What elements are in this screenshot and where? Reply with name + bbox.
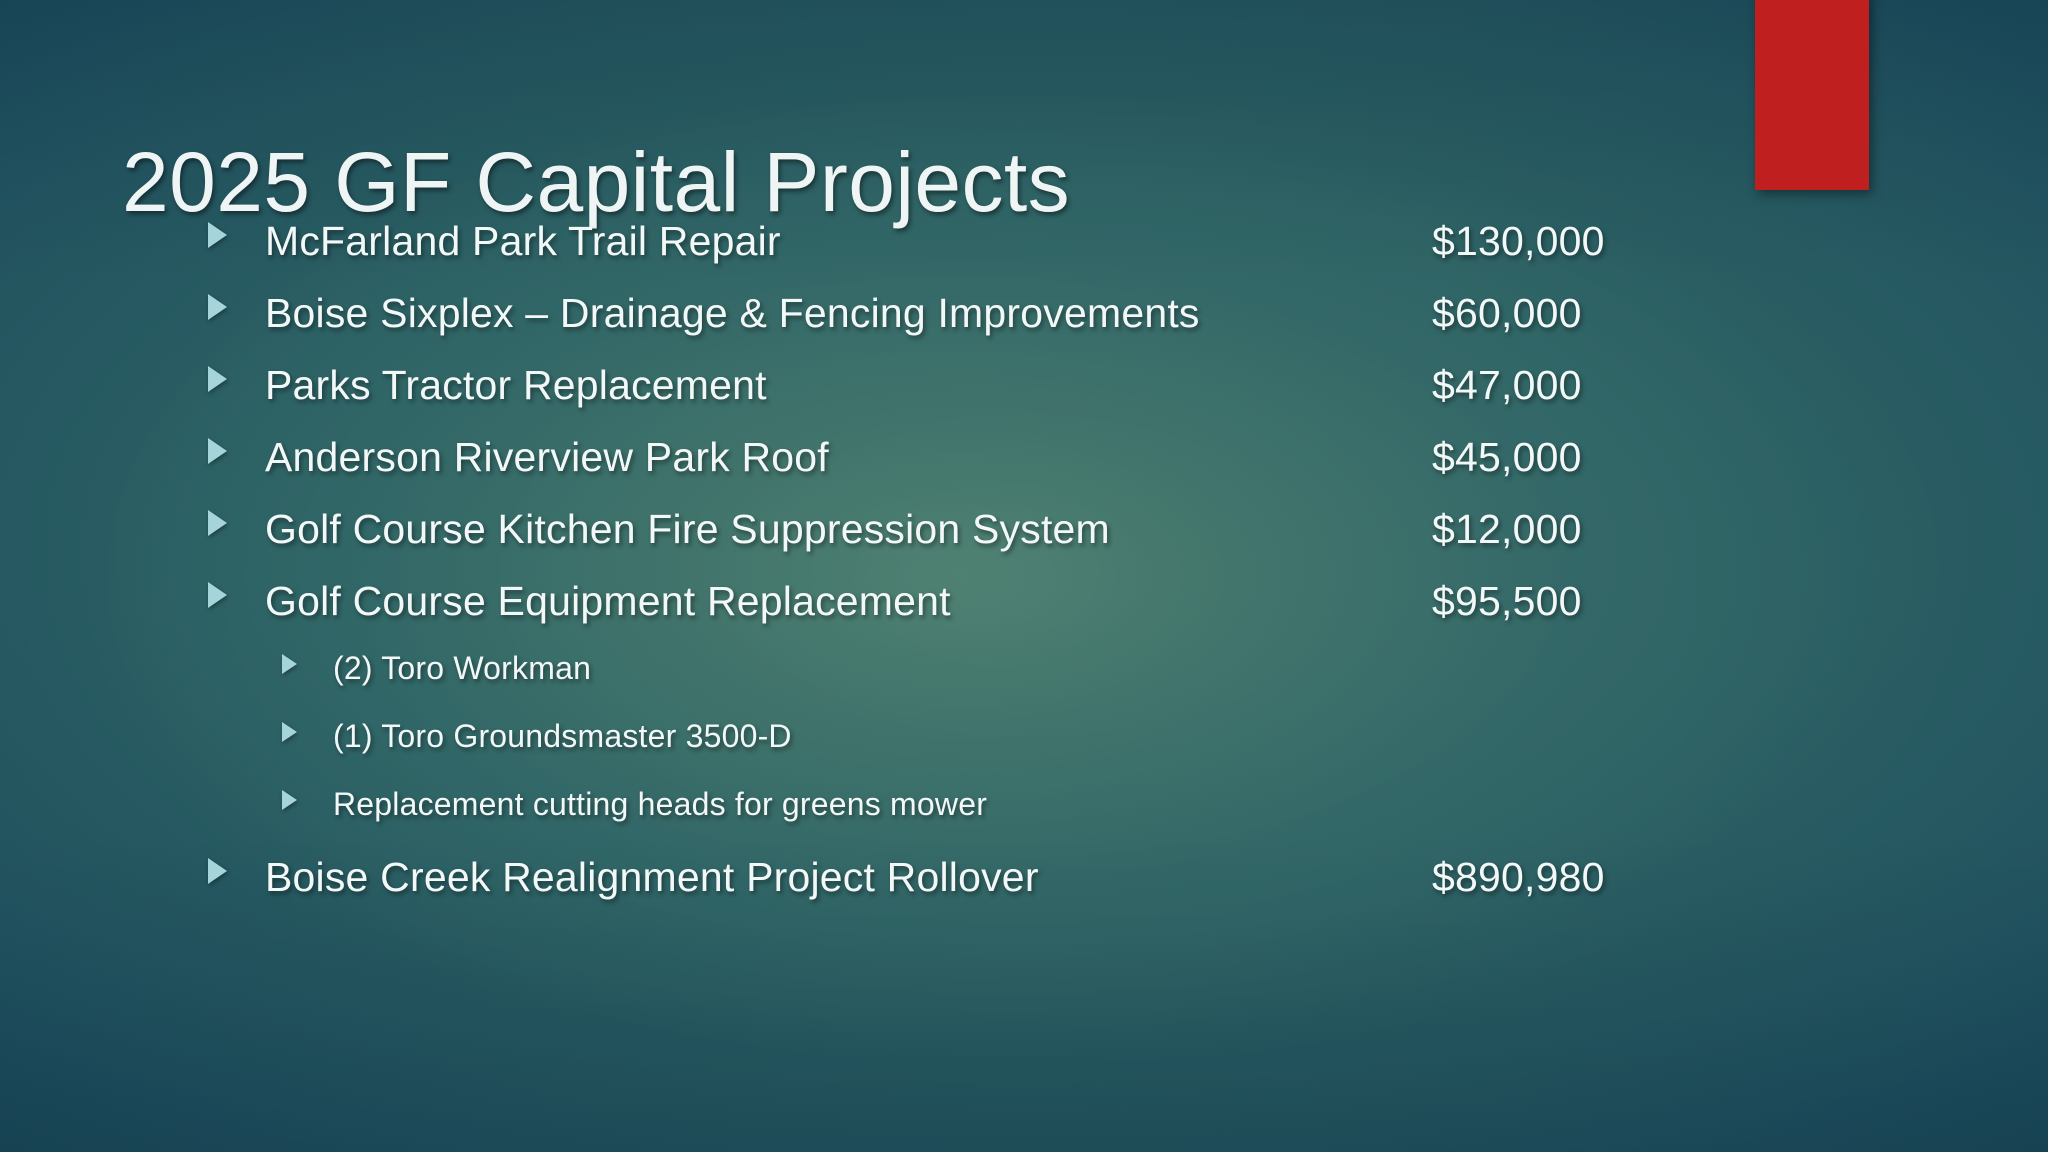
presentation-slide: 2025 GF Capital Projects McFarland Park … <box>0 0 2048 1152</box>
project-amount: $95,500 <box>1432 578 1582 625</box>
project-name: (2) Toro Workman <box>333 650 591 687</box>
bullet-triangle-icon <box>282 722 297 742</box>
project-amount: $60,000 <box>1432 290 1582 337</box>
capital-projects-list: McFarland Park Trail Repair$130,000Boise… <box>0 218 2048 926</box>
project-name: McFarland Park Trail Repair <box>265 218 781 265</box>
project-name: (1) Toro Groundsmaster 3500-D <box>333 718 792 755</box>
project-amount: $890,980 <box>1432 854 1605 901</box>
project-name: Boise Sixplex – Drainage & Fencing Impro… <box>265 290 1200 337</box>
project-name: Boise Creek Realignment Project Rollover <box>265 854 1039 901</box>
list-item: Golf Course Equipment Replacement$95,500 <box>0 578 2048 650</box>
list-item: Golf Course Kitchen Fire Suppression Sys… <box>0 506 2048 578</box>
project-name: Anderson Riverview Park Roof <box>265 434 829 481</box>
project-amount: $45,000 <box>1432 434 1582 481</box>
project-amount: $12,000 <box>1432 506 1582 553</box>
bullet-triangle-icon <box>208 366 227 392</box>
bullet-triangle-icon <box>208 222 227 248</box>
bullet-triangle-icon <box>282 790 297 810</box>
sub-list-item: Replacement cutting heads for greens mow… <box>0 786 2048 854</box>
red-accent-bar <box>1755 0 1869 190</box>
list-item: McFarland Park Trail Repair$130,000 <box>0 218 2048 290</box>
bullet-triangle-icon <box>208 510 227 536</box>
bullet-triangle-icon <box>208 438 227 464</box>
list-item: Boise Creek Realignment Project Rollover… <box>0 854 2048 926</box>
project-name: Replacement cutting heads for greens mow… <box>333 786 987 823</box>
project-amount: $47,000 <box>1432 362 1582 409</box>
slide-title: 2025 GF Capital Projects <box>122 134 1070 231</box>
bullet-triangle-icon <box>282 654 297 674</box>
bullet-triangle-icon <box>208 582 227 608</box>
sub-list-item: (2) Toro Workman <box>0 650 2048 718</box>
list-item: Anderson Riverview Park Roof$45,000 <box>0 434 2048 506</box>
project-name: Golf Course Kitchen Fire Suppression Sys… <box>265 506 1110 553</box>
project-name: Parks Tractor Replacement <box>265 362 767 409</box>
project-amount: $130,000 <box>1432 218 1605 265</box>
bullet-triangle-icon <box>208 294 227 320</box>
sub-list-item: (1) Toro Groundsmaster 3500-D <box>0 718 2048 786</box>
bullet-triangle-icon <box>208 858 227 884</box>
project-name: Golf Course Equipment Replacement <box>265 578 951 625</box>
list-item: Parks Tractor Replacement$47,000 <box>0 362 2048 434</box>
list-item: Boise Sixplex – Drainage & Fencing Impro… <box>0 290 2048 362</box>
